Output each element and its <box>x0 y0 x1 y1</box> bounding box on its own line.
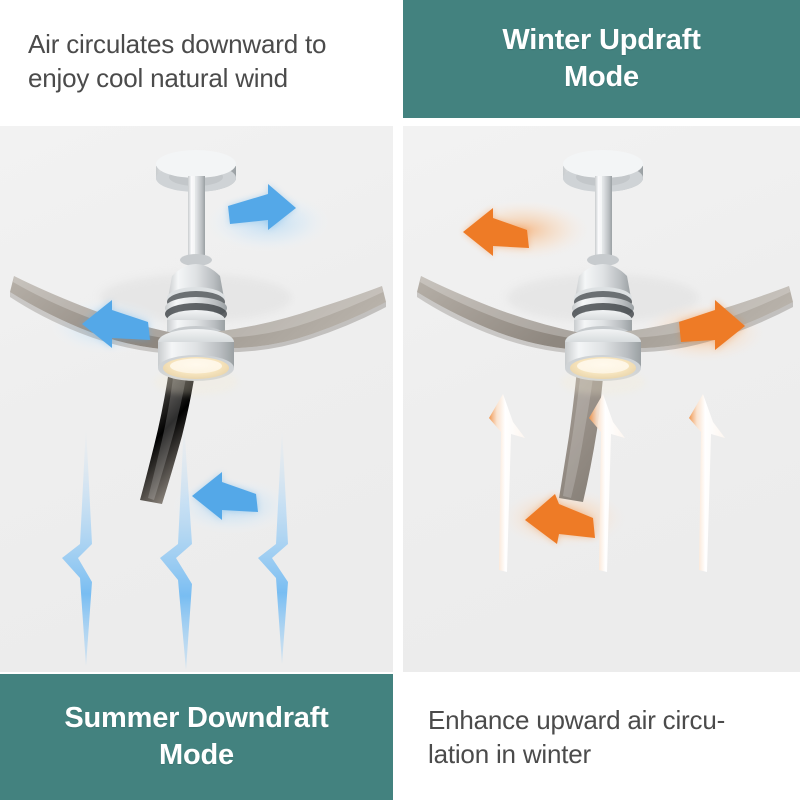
summer-downdraft-mode-title: Summer Downdraft Mode <box>64 700 328 774</box>
fan-downrod <box>595 176 612 258</box>
fan-led-light <box>154 329 238 395</box>
fan-led-light <box>561 329 645 395</box>
ceiling-fan-downdraft-graphic <box>0 126 393 672</box>
bottom-left-headline-panel: Summer Downdraft Mode <box>0 674 393 800</box>
infographic-sheet: Air circulates downward to enjoy cool na… <box>0 0 800 800</box>
downdraft-illustration-panel <box>0 126 393 672</box>
fan-downrod <box>188 176 205 258</box>
top-left-caption-text: Air circulates downward to enjoy cool na… <box>28 27 326 96</box>
bottom-right-caption-text: Enhance upward air circu- lation in wint… <box>428 703 725 772</box>
winter-updraft-mode-title: Winter Updraft Mode <box>502 22 700 96</box>
top-left-caption-panel: Air circulates downward to enjoy cool na… <box>0 0 393 122</box>
bottom-right-caption-panel: Enhance upward air circu- lation in wint… <box>403 674 800 800</box>
top-right-headline-panel: Winter Updraft Mode <box>403 0 800 118</box>
updraft-illustration-panel <box>403 126 800 672</box>
ceiling-fan-updraft-graphic <box>403 126 800 672</box>
